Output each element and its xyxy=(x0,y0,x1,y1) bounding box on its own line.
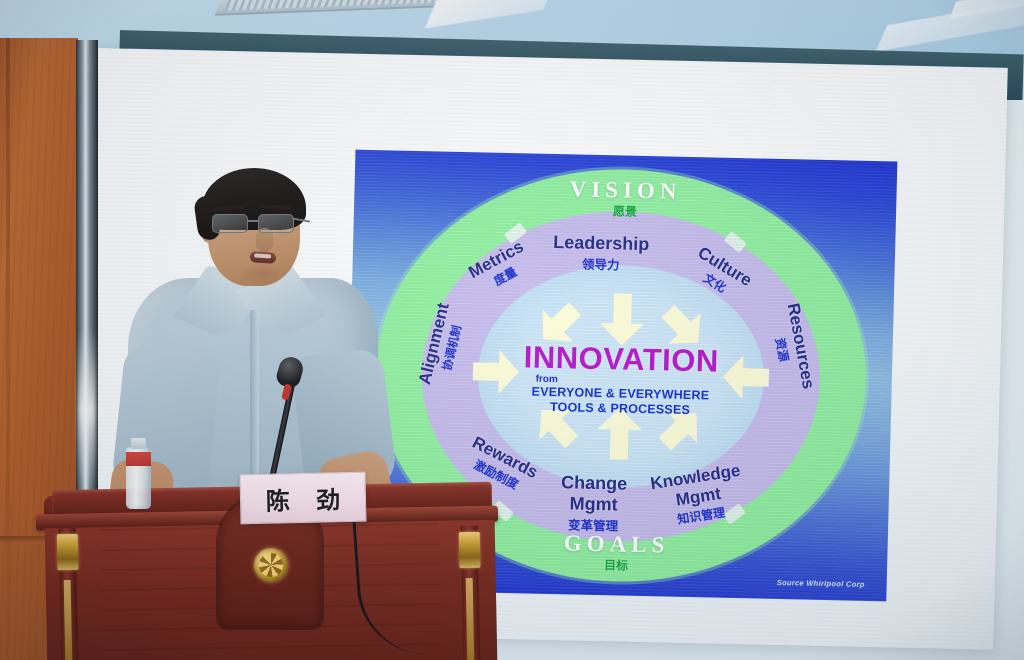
slide-source-attribution: Source Whirlpool Corp xyxy=(777,578,865,589)
leadership-cn: 领导力 xyxy=(552,253,648,274)
lectern-column-gold-stripe xyxy=(64,580,73,660)
change-cn: 变革管理 xyxy=(560,514,626,534)
metal-strip-highlight xyxy=(78,330,96,490)
slide-title-vision: VISION 愿景 xyxy=(354,172,897,226)
water-bottle-cap xyxy=(131,438,146,449)
vision-label: VISION xyxy=(569,176,681,203)
eyeglasses xyxy=(212,214,302,234)
arrow-inward xyxy=(600,293,645,346)
mouth xyxy=(250,251,277,264)
presentation-photo-scene: VISION 愿景 GOALS 目标 INNOVATION from EVERY… xyxy=(0,0,1024,660)
chin-shadow xyxy=(238,264,286,284)
nameplate-text: 陈 劲 xyxy=(256,480,349,517)
lectern-column-right xyxy=(461,526,481,660)
lectern-column-gold-cap xyxy=(57,534,79,570)
lectern-gold-emblem xyxy=(254,548,288,582)
lectern-column-gold-stripe xyxy=(466,578,475,660)
lectern-column-gold-cap xyxy=(459,532,481,568)
speaker-nameplate: 陈 劲 xyxy=(239,472,366,525)
lens-right xyxy=(258,214,294,233)
ceiling-light-panel xyxy=(425,0,556,28)
glasses-bridge xyxy=(248,220,258,222)
change-en: Change xyxy=(561,472,628,493)
glasses-temple xyxy=(292,217,310,222)
leadership-en: Leadership xyxy=(553,232,650,254)
ring-label-leadership: Leadership 领导力 xyxy=(552,232,649,274)
lectern-column-left xyxy=(59,528,79,660)
water-bottle-label xyxy=(126,452,151,466)
change-en2: Mgmt xyxy=(560,493,627,515)
ring-label-change-mgmt: Change Mgmt 变革管理 xyxy=(560,472,628,534)
lens-left xyxy=(212,214,248,233)
